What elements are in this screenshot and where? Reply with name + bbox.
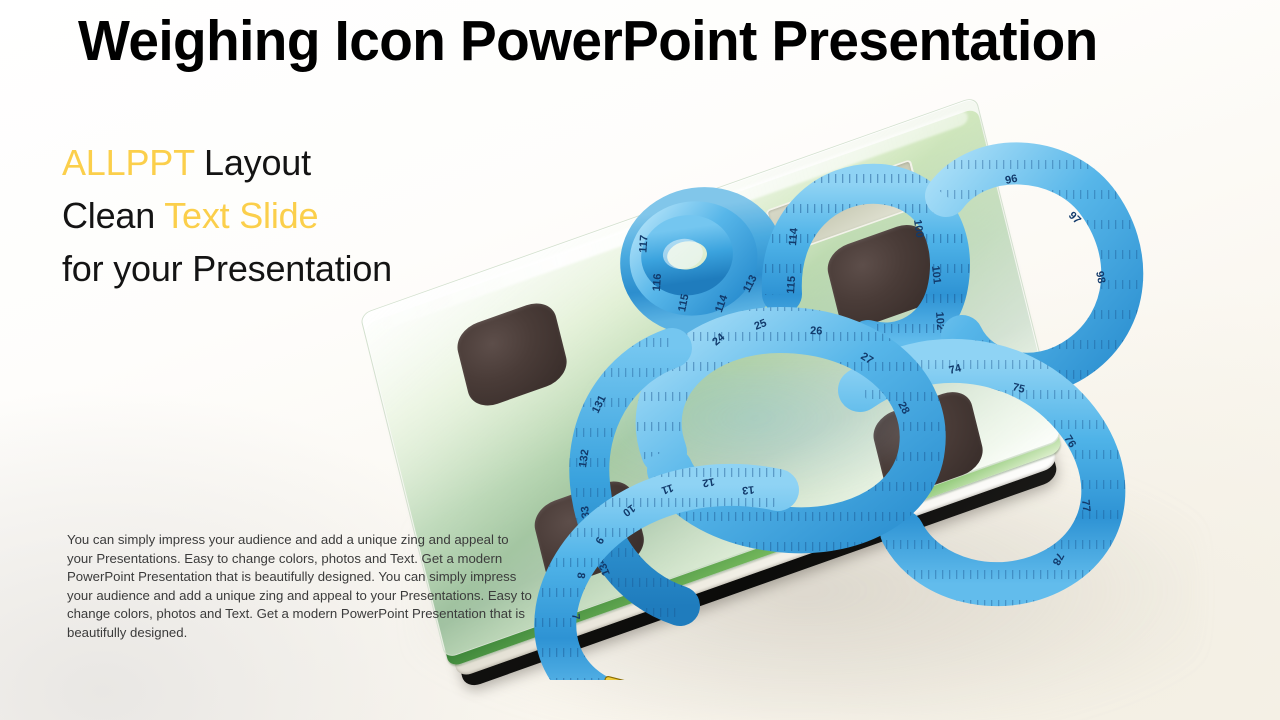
svg-text:98: 98 — [1093, 270, 1107, 284]
body-paragraph: You can simply impress your audience and… — [67, 531, 532, 643]
scale-foot-pad-bottom-left — [530, 475, 648, 591]
svg-text:97: 97 — [1066, 210, 1083, 227]
heading-line-2-plain: Clean — [62, 195, 164, 236]
heading-accent-allppt: ALLPPT — [62, 142, 194, 183]
scale-foot-pad-top-left — [453, 297, 571, 413]
tape-reflection — [590, 370, 920, 490]
heading-line-1-rest: Layout — [194, 142, 311, 183]
slide-canvas: Weighing Icon PowerPoint Presentation AL… — [0, 0, 1280, 720]
scale-foot-pad-top-right — [823, 218, 941, 334]
heading-accent-text-slide: Text Slide — [164, 195, 318, 236]
page-title: Weighing Icon PowerPoint Presentation — [78, 12, 1168, 71]
